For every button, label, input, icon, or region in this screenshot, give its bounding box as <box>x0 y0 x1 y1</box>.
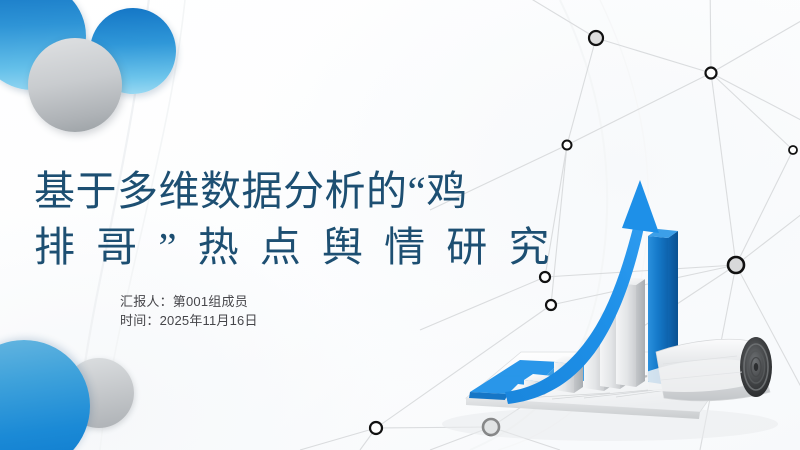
presenter-line: 汇报人：第001组成员 <box>120 292 258 311</box>
presentation-slide: 基于多维数据分析的“鸡 排 哥 ” 热 点 舆 情 研 究 汇报人：第001组成… <box>0 0 800 450</box>
gray-circle-top-left <box>28 38 122 132</box>
title-char: 哥 <box>96 219 138 275</box>
title-char: 舆 <box>322 219 364 275</box>
title-char: 究 <box>508 219 550 275</box>
page-title-line-1: 基于多维数据分析的“鸡 <box>34 163 564 219</box>
title-block: 基于多维数据分析的“鸡 排 哥 ” 热 点 舆 情 研 究 <box>34 163 564 275</box>
subtitle-block: 汇报人：第001组成员 时间：2025年11月16日 <box>120 292 258 330</box>
title-char: 情 <box>384 219 426 275</box>
title-char: 研 <box>446 219 488 275</box>
title-char: 排 <box>34 219 76 275</box>
date-line: 时间：2025年11月16日 <box>120 311 258 330</box>
page-title-line-2: 排 哥 ” 热 点 舆 情 研 究 <box>34 219 550 275</box>
title-char: ” <box>158 219 177 275</box>
title-char: 点 <box>260 219 302 275</box>
title-char: 热 <box>198 219 240 275</box>
